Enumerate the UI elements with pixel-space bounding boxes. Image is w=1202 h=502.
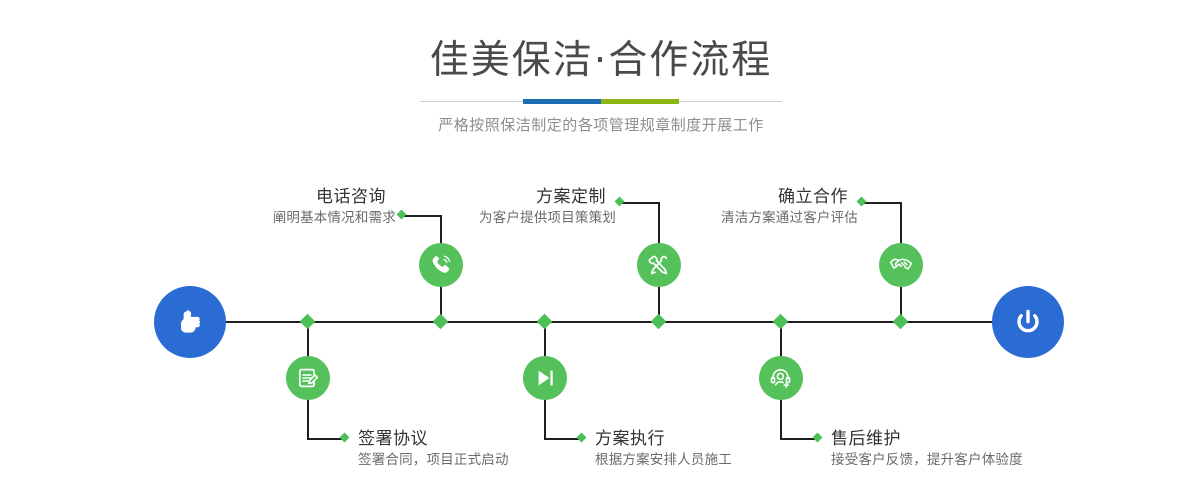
step-desc-5: 清洁方案通过客户评估	[612, 208, 858, 229]
step-node-1[interactable]	[419, 243, 463, 287]
page-title: 佳美保洁·合作流程	[0, 0, 1202, 84]
step-node-3[interactable]	[637, 243, 681, 287]
axis-marker-step-1	[433, 314, 449, 330]
label-marker-step-5	[857, 197, 867, 207]
phone-call-icon	[428, 252, 454, 278]
document-edit-icon	[295, 365, 321, 391]
axis-marker-step-5	[893, 314, 909, 330]
step-node-4[interactable]	[523, 356, 567, 400]
step-title-1: 电话咨询	[150, 186, 396, 208]
cooperation-process-infographic: 佳美保洁·合作流程 严格按照保洁制定的各项管理规章制度开展工作	[0, 0, 1202, 502]
axis-marker-step-2	[300, 314, 316, 330]
timeline-start-endpoint	[154, 286, 226, 358]
title-divider	[420, 98, 782, 105]
step-label-3: 方案定制 为客户提供项目策策划	[370, 186, 616, 229]
play-next-icon	[532, 365, 558, 391]
timeline-end-endpoint	[992, 286, 1064, 358]
axis-marker-step-3	[651, 314, 667, 330]
step-desc-1: 阐明基本情况和需求	[150, 208, 396, 229]
step-title-6: 售后维护	[821, 428, 1151, 450]
page-subtitle: 严格按照保洁制定的各项管理规章制度开展工作	[0, 105, 1202, 136]
axis-marker-step-4	[537, 314, 553, 330]
step-desc-6: 接受客户反馈，提升客户体验度	[821, 450, 1151, 471]
axis-marker-step-6	[773, 314, 789, 330]
step-node-2[interactable]	[286, 356, 330, 400]
step-node-5[interactable]	[879, 243, 923, 287]
step-label-5: 确立合作 清洁方案通过客户评估	[612, 186, 858, 229]
step-title-3: 方案定制	[370, 186, 616, 208]
step-node-6[interactable]	[759, 356, 803, 400]
step-label-6: 售后维护 接受客户反馈，提升客户体验度	[821, 428, 1151, 471]
step-title-5: 确立合作	[612, 186, 858, 208]
divider-green-segment	[601, 99, 679, 104]
pencil-ruler-icon	[646, 252, 672, 278]
step-desc-3: 为客户提供项目策策划	[370, 208, 616, 229]
header: 佳美保洁·合作流程 严格按照保洁制定的各项管理规章制度开展工作	[0, 0, 1202, 136]
divider-blue-segment	[523, 99, 601, 104]
step-label-1: 电话咨询 阐明基本情况和需求	[150, 186, 396, 229]
handshake-icon	[888, 252, 914, 278]
pointing-hand-icon	[170, 302, 210, 342]
connector-elbow-step-5	[864, 202, 901, 204]
customer-support-icon	[768, 365, 794, 391]
power-button-icon	[1008, 302, 1048, 342]
